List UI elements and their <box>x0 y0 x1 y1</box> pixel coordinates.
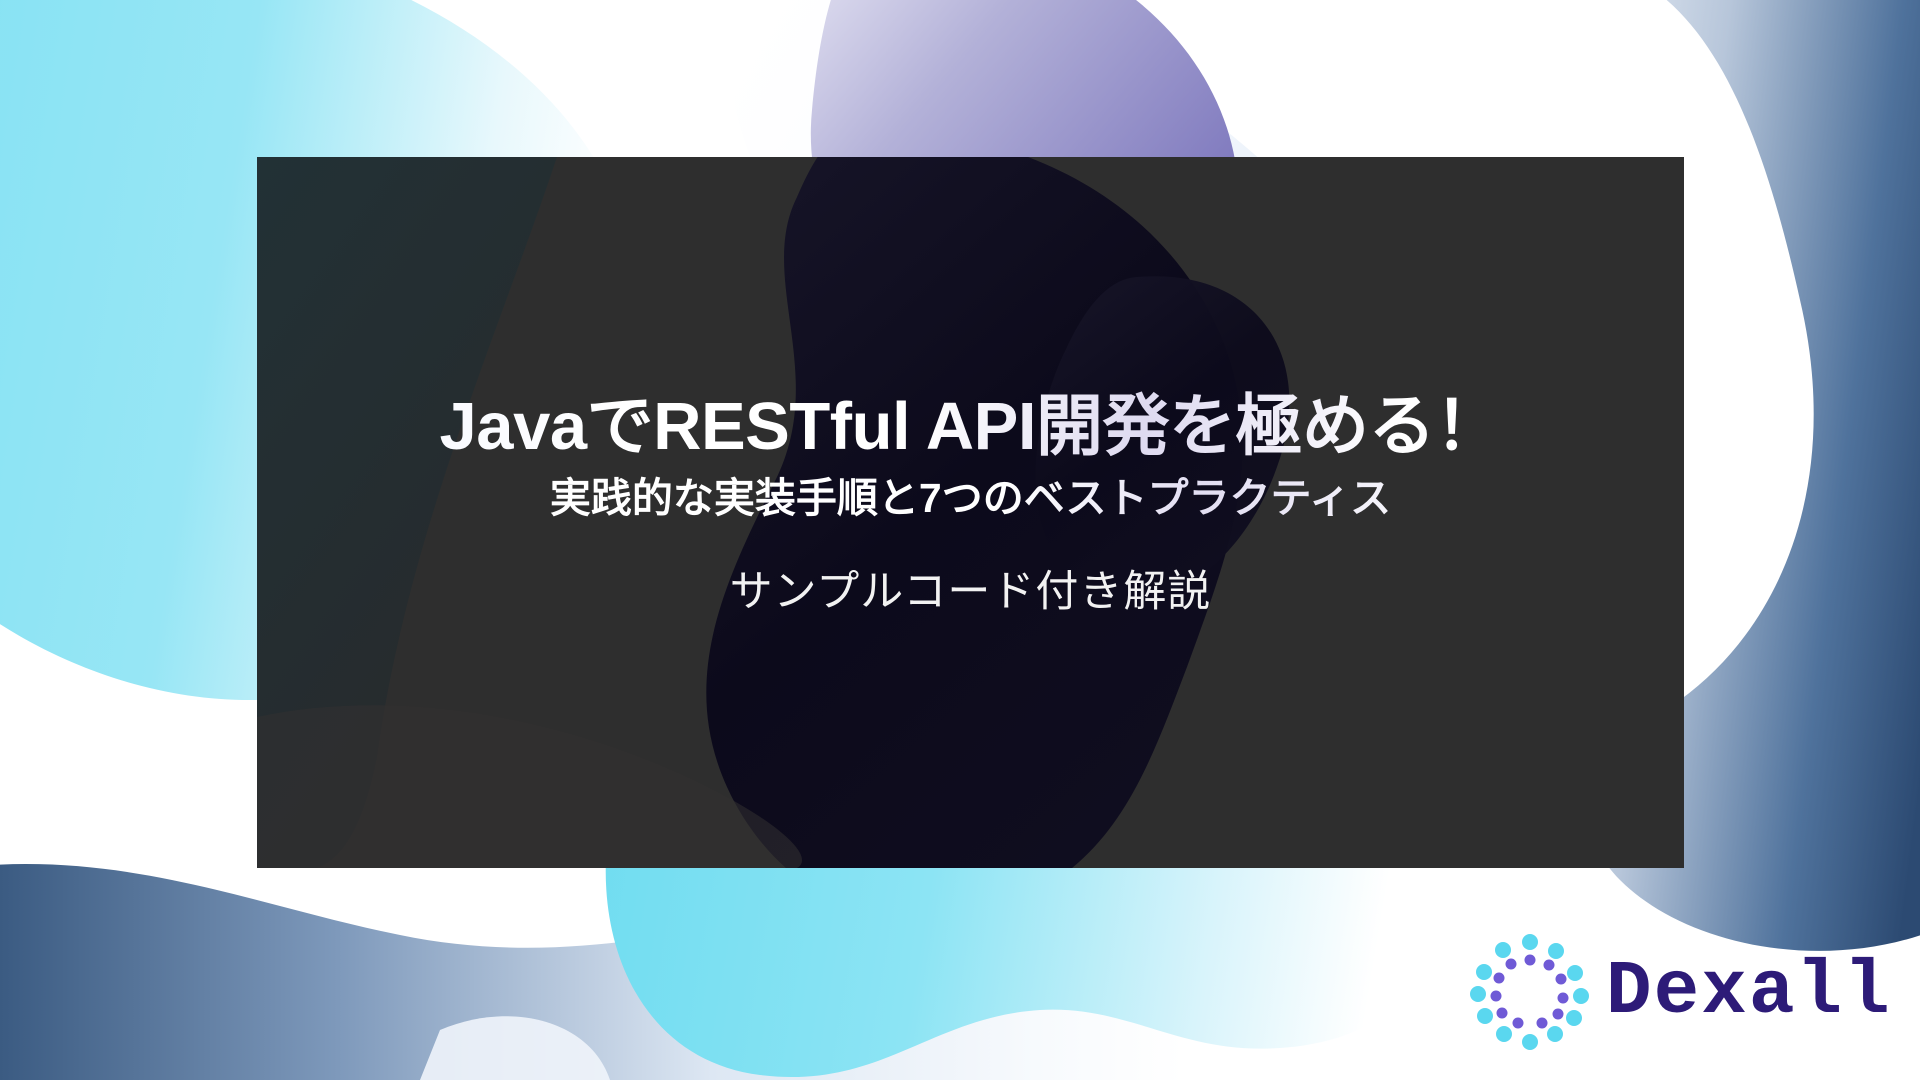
card-text-content: JavaでRESTful API開発を極める！ 実践的な実装手順と7つのベストプ… <box>257 157 1684 868</box>
brand-logo: Dexall <box>1468 930 1892 1054</box>
page-subtitle: 実践的な実装手順と7つのベストプラクティス <box>257 474 1684 523</box>
dotted-ring-icon <box>1468 930 1592 1054</box>
page-caption: サンプルコード付き解説 <box>257 557 1684 619</box>
page-title: JavaでRESTful API開発を極める！ <box>257 389 1684 464</box>
title-block: JavaでRESTful API開発を極める！ 実践的な実装手順と7つのベストプ… <box>257 389 1684 523</box>
content-card: JavaでRESTful API開発を極める！ 実践的な実装手順と7つのベストプ… <box>257 157 1684 868</box>
logo-wordmark: Dexall <box>1606 954 1892 1030</box>
og-image-canvas: JavaでRESTful API開発を極める！ 実践的な実装手順と7つのベストプ… <box>0 0 1920 1080</box>
